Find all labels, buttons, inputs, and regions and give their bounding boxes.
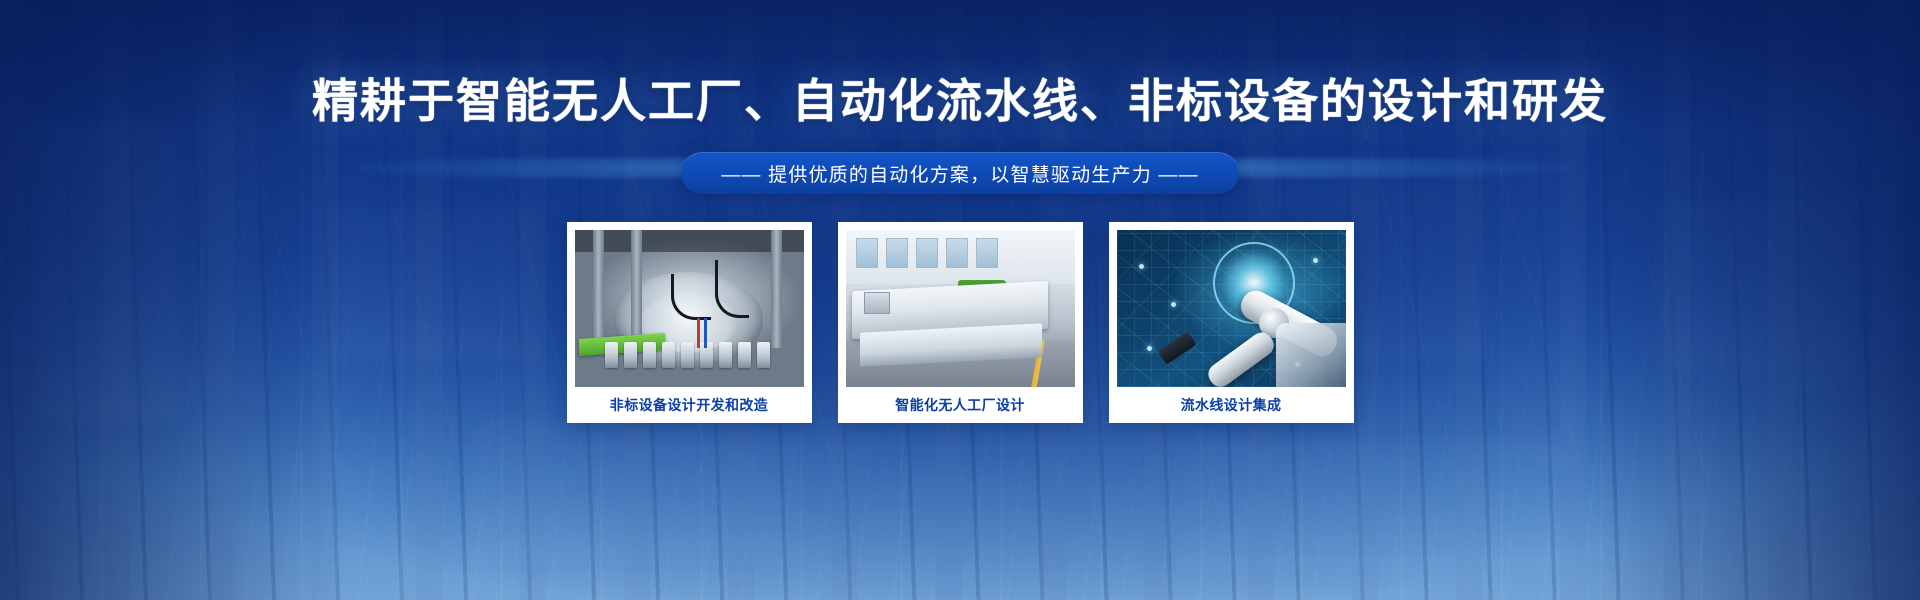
circuit-node-dot <box>1313 258 1318 263</box>
hero-banner: 精耕于智能无人工厂、自动化流水线、非标设备的设计和研发 —— 提供优质的自动化方… <box>0 0 1920 600</box>
service-card-caption: 非标设备设计开发和改造 <box>575 387 804 423</box>
service-card-caption: 智能化无人工厂设计 <box>846 387 1075 423</box>
extruder-production-line-photo <box>846 230 1075 387</box>
rotary-assembly-machine-photo <box>575 230 804 387</box>
cable-shape <box>715 260 749 318</box>
service-card[interactable]: 智能化无人工厂设计 <box>838 222 1083 423</box>
window-shape <box>976 238 998 268</box>
circuit-node-dot <box>1147 346 1152 351</box>
service-card-caption: 流水线设计集成 <box>1117 387 1346 423</box>
circuit-node-dot <box>1171 302 1176 307</box>
window-shape <box>886 238 908 268</box>
window-shape <box>916 238 938 268</box>
robot-arm-base-shape <box>1276 323 1346 387</box>
blue-wire-shape <box>704 318 707 348</box>
service-card-list: 非标设备设计开发和改造 <box>567 222 1354 423</box>
red-wire-shape <box>697 318 700 348</box>
service-card[interactable]: 流水线设计集成 <box>1109 222 1354 423</box>
banner-content: 精耕于智能无人工厂、自动化流水线、非标设备的设计和研发 —— 提供优质的自动化方… <box>0 0 1920 600</box>
bottle-row-shape <box>603 322 779 368</box>
circuit-node-dot <box>1139 264 1144 269</box>
robotic-arm-tech-photo <box>1117 230 1346 387</box>
control-panel-shape <box>864 292 890 314</box>
banner-tagline-text: —— 提供优质的自动化方案，以智慧驱动生产力 —— <box>721 160 1199 187</box>
service-card[interactable]: 非标设备设计开发和改造 <box>567 222 812 423</box>
window-shape <box>946 238 968 268</box>
banner-tagline-pill: —— 提供优质的自动化方案，以智慧驱动生产力 —— <box>681 152 1239 194</box>
window-shape <box>856 238 878 268</box>
banner-headline: 精耕于智能无人工厂、自动化流水线、非标设备的设计和研发 <box>312 78 1608 124</box>
